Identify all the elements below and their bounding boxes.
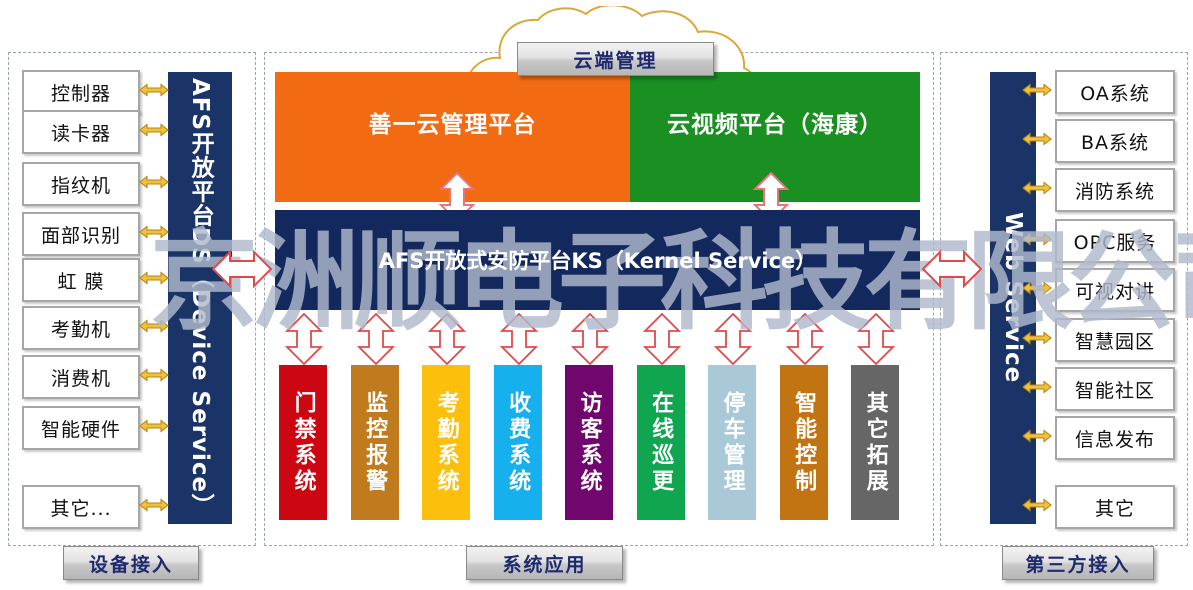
third-party-item-label: OA系统 [1080,79,1150,106]
third-party-item-label: 智慧园区 [1075,327,1155,354]
third-party-item-label: 其它 [1095,494,1135,521]
device-item-label: 考勤机 [51,315,111,342]
third-party-item-box[interactable]: 智能社区 [1055,367,1175,411]
device-item-box[interactable]: 控制器 [22,70,140,114]
application-pillar-label: 收费系统 [506,391,529,495]
application-pillar[interactable]: 其它拓展 [851,365,899,520]
device-item-box[interactable]: 智能硬件 [22,406,140,450]
kernel-application-arrow [856,313,896,369]
kernel-application-arrow [785,313,825,369]
device-item-box[interactable]: 面部识别 [22,212,140,256]
application-pillar-row: 门禁系统监控报警考勤系统收费系统访客系统在线巡更停车管理智能控制其它拓展 [275,365,920,520]
device-service-bar[interactable]: AFS开放平台DS（Device Service） [168,72,232,524]
connector-arrow-third-party [1022,428,1052,444]
leftright-arrow-kernel-webservice [922,248,982,294]
application-pillar-label: 在线巡更 [649,391,672,495]
third-party-access-label: 第三方接入 [1025,550,1130,577]
third-party-item-label: 信息发布 [1075,425,1155,452]
connector-arrow-device [139,122,169,138]
connector-arrow-device [139,318,169,334]
application-pillar[interactable]: 门禁系统 [279,365,327,520]
third-party-item-box[interactable]: 可视对讲 [1055,268,1175,312]
device-item-label: 智能硬件 [41,415,121,442]
device-item-label: 控制器 [51,79,111,106]
application-pillar[interactable]: 监控报警 [351,365,399,520]
third-party-item-label: OPC服务 [1074,228,1157,255]
kernel-application-arrow [427,313,467,369]
application-pillar-label: 门禁系统 [291,391,314,495]
kernel-application-arrow [356,313,396,369]
device-service-label: AFS开放平台DS（Device Service） [188,78,212,517]
connector-arrow-third-party [1022,131,1052,147]
third-party-item-box[interactable]: OPC服务 [1055,219,1175,263]
device-item-box[interactable]: 虹 膜 [22,258,140,302]
application-pillar[interactable]: 智能控制 [780,365,828,520]
device-access-caption[interactable]: 设备接入 [63,546,199,580]
third-party-item-label: BA系统 [1081,128,1149,155]
device-item-label: 指纹机 [51,171,111,198]
kernel-service-label: AFS开放式安防平台KS（Kernel Service） [379,245,817,275]
device-item-label: 虹 膜 [57,267,104,294]
application-pillar-label: 访客系统 [577,391,600,495]
connector-arrow-device [139,270,169,286]
device-item-box[interactable]: 指纹机 [22,162,140,206]
connector-arrow-device [139,82,169,98]
connector-arrow-third-party [1022,497,1052,513]
application-pillar-label: 停车管理 [720,391,743,495]
third-party-item-box[interactable]: BA系统 [1055,119,1175,163]
third-party-item-box[interactable]: 智慧园区 [1055,318,1175,362]
application-pillar-label: 监控报警 [363,391,386,495]
cloud-management-caption[interactable]: 云端管理 [517,42,714,76]
third-party-access-caption[interactable]: 第三方接入 [1002,546,1154,580]
application-pillar-label: 考勤系统 [434,391,457,495]
kernel-application-arrow [570,313,610,369]
application-pillar-label: 智能控制 [792,391,815,495]
system-application-caption[interactable]: 系统应用 [466,546,623,580]
cloud-platform-label: 云视频平台（海康） [667,105,883,169]
device-item-box[interactable]: 考勤机 [22,306,140,350]
application-pillar[interactable]: 考勤系统 [422,365,470,520]
third-party-item-label: 可视对讲 [1075,277,1155,304]
kernel-application-arrow [499,313,539,369]
leftright-arrow-device-kernel [212,248,272,294]
kernel-service-bar[interactable]: AFS开放式安防平台KS（Kernel Service） [275,210,920,310]
third-party-item-box[interactable]: 其它 [1055,485,1175,529]
cloud-management-label: 云端管理 [573,46,657,73]
connector-arrow-third-party [1022,82,1052,98]
application-pillar[interactable]: 在线巡更 [637,365,685,520]
connector-arrow-third-party [1022,280,1052,296]
system-application-label: 系统应用 [502,550,586,577]
device-item-label: 其它... [50,494,111,521]
connector-arrow-third-party [1022,231,1052,247]
device-item-label: 面部识别 [41,221,121,248]
kernel-application-arrow [284,313,324,369]
third-party-item-label: 消防系统 [1075,177,1155,204]
third-party-item-box[interactable]: 信息发布 [1055,416,1175,460]
connector-arrow-third-party [1022,180,1052,196]
connector-arrow-third-party [1022,379,1052,395]
device-access-label: 设备接入 [89,550,173,577]
application-pillar[interactable]: 访客系统 [565,365,613,520]
application-pillar[interactable]: 收费系统 [494,365,542,520]
cloud-platform-label: 善一云管理平台 [369,105,537,169]
device-item-box[interactable]: 其它... [22,485,140,529]
connector-arrow-device [139,497,169,513]
application-pillar[interactable]: 停车管理 [708,365,756,520]
connector-arrow-device [139,224,169,240]
architecture-diagram: 善一云管理平台 云视频平台（海康） 云端管理 AFS开放式安防平台KS（Kern… [0,0,1193,590]
third-party-item-box[interactable]: 消防系统 [1055,168,1175,212]
kernel-application-arrow [642,313,682,369]
third-party-item-box[interactable]: OA系统 [1055,70,1175,114]
connector-arrow-device [139,174,169,190]
kernel-application-arrow [713,313,753,369]
connector-arrow-device [139,418,169,434]
connector-arrow-device [139,367,169,383]
device-item-box[interactable]: 读卡器 [22,110,140,154]
application-pillar-label: 其它拓展 [863,391,886,495]
third-party-item-label: 智能社区 [1075,376,1155,403]
device-item-box[interactable]: 消费机 [22,355,140,399]
device-item-label: 消费机 [51,364,111,391]
device-item-label: 读卡器 [51,119,111,146]
connector-arrow-third-party [1022,330,1052,346]
